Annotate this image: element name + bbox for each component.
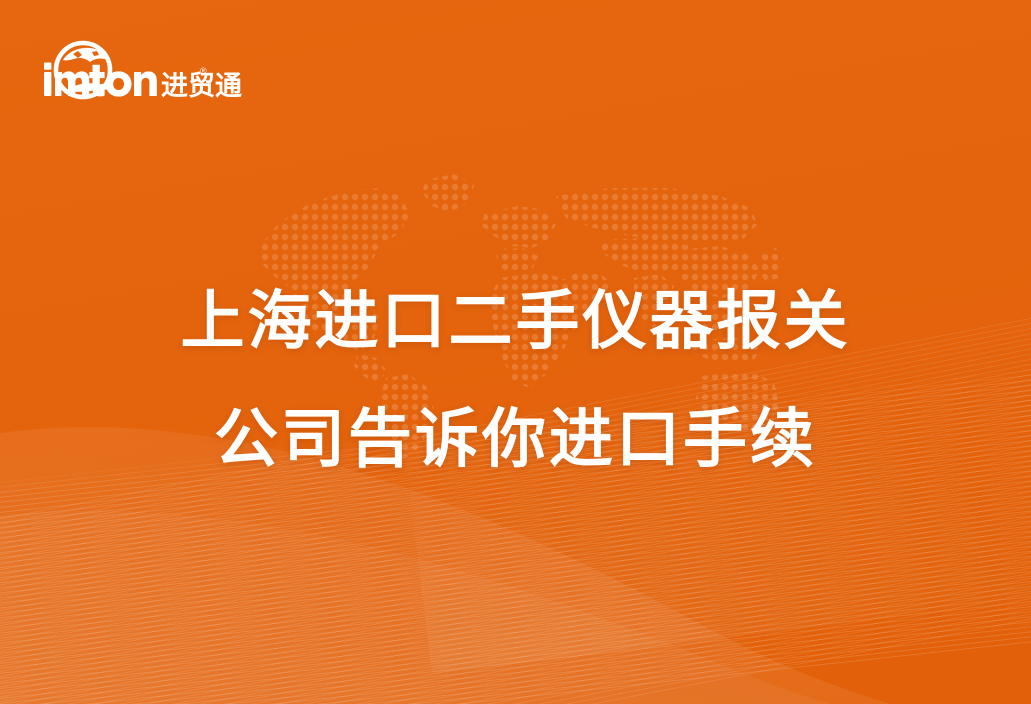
poster-banner: 进贸通 ® 上海进口二手仪器报关 公司告诉你进口手续 bbox=[0, 0, 1031, 704]
brand-logo[interactable]: 进贸通 ® bbox=[38, 26, 213, 104]
registered-mark: ® bbox=[200, 66, 207, 76]
swoosh-ribbon bbox=[0, 324, 1031, 704]
logo-wordmark bbox=[44, 63, 157, 97]
